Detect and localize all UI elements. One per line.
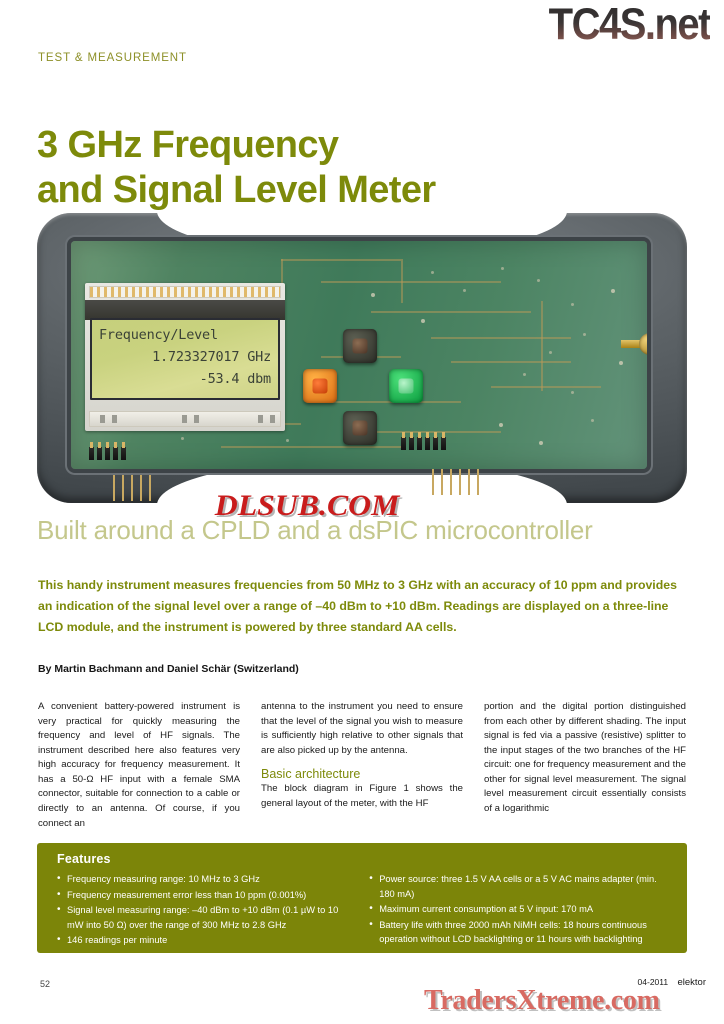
list-item: Signal level measuring range: –40 dBm to…	[57, 903, 351, 932]
tact-button-orange[interactable]	[303, 369, 337, 403]
programming-header	[401, 437, 446, 450]
list-item: Battery life with three 2000 mAh NiMH ce…	[369, 918, 671, 947]
body-column-3: portion and the digital portion distingu…	[484, 700, 686, 840]
body-paragraph: The block diagram in Figure 1 shows the …	[261, 782, 463, 811]
magazine-name: elektor	[677, 977, 706, 988]
lcd-line-frequency: 1.723327017 GHz	[99, 347, 271, 369]
circuit-board: Frequency/Level 1.723327017 GHz -53.4 db…	[71, 241, 647, 469]
lcd-line-level: -53.4 dbm	[99, 369, 271, 391]
section-heading-basic-architecture: Basic architecture	[261, 767, 463, 781]
header-pin-legs	[113, 475, 151, 501]
button-cap	[313, 379, 328, 394]
body-paragraph: A convenient battery-powered instrument …	[38, 700, 240, 831]
list-item: Power source: three 1.5 V AA cells or a …	[369, 872, 671, 901]
features-box: Features Frequency measuring range: 10 M…	[37, 843, 687, 953]
lcd-base-strip	[89, 411, 281, 427]
product-photo: Frequency/Level 1.723327017 GHz -53.4 db…	[37, 213, 687, 503]
page-title-line-1: 3 GHz Frequency	[37, 123, 677, 168]
header-pin-legs-2	[432, 469, 479, 495]
button-cap	[353, 339, 368, 354]
article-body: A convenient battery-powered instrument …	[38, 700, 688, 840]
list-item: Maximum current consumption at 5 V input…	[369, 902, 671, 917]
features-list-left: Frequency measuring range: 10 MHz to 3 G…	[57, 872, 351, 949]
tact-button-bottom[interactable]	[343, 411, 377, 445]
lcd-pin-header	[89, 286, 281, 298]
page-title: 3 GHz Frequency and Signal Level Meter	[37, 123, 677, 213]
article-byline: By Martin Bachmann and Daniel Schär (Swi…	[38, 663, 299, 675]
page-number: 52	[40, 979, 50, 989]
battery-header	[89, 447, 126, 460]
lcd-screen: Frequency/Level 1.723327017 GHz -53.4 db…	[90, 318, 280, 400]
body-column-1: A convenient battery-powered instrument …	[38, 700, 240, 840]
list-item: Frequency measuring range: 10 MHz to 3 G…	[57, 872, 351, 887]
site-logo: TC4S.net	[549, 2, 710, 47]
section-kicker: TEST & MEASUREMENT	[38, 52, 187, 64]
button-cap	[353, 421, 368, 436]
body-paragraph: antenna to the instrument you need to en…	[261, 700, 463, 758]
body-paragraph: portion and the digital portion distingu…	[484, 700, 686, 817]
body-column-2: antenna to the instrument you need to en…	[261, 700, 463, 840]
tact-button-top[interactable]	[343, 329, 377, 363]
lcd-line-title: Frequency/Level	[99, 325, 271, 347]
sma-connector	[621, 333, 647, 355]
article-standfirst: This handy instrument measures frequenci…	[38, 575, 686, 638]
page-title-line-2: and Signal Level Meter	[37, 168, 677, 213]
tact-button-green[interactable]	[389, 369, 423, 403]
sma-barrel	[639, 333, 647, 355]
lcd-bezel	[85, 300, 285, 320]
list-item: 146 readings per minute	[57, 933, 351, 948]
footer-watermark: TradersXtreme.com	[424, 985, 660, 1017]
features-title: Features	[57, 852, 671, 866]
lcd-module: Frequency/Level 1.723327017 GHz -53.4 db…	[85, 283, 285, 431]
list-item: Frequency measurement error less than 10…	[57, 888, 351, 903]
button-cap	[399, 379, 414, 394]
features-list-right: Power source: three 1.5 V AA cells or a …	[369, 872, 671, 949]
page-subtitle: Built around a CPLD and a dsPIC microcon…	[37, 515, 593, 546]
